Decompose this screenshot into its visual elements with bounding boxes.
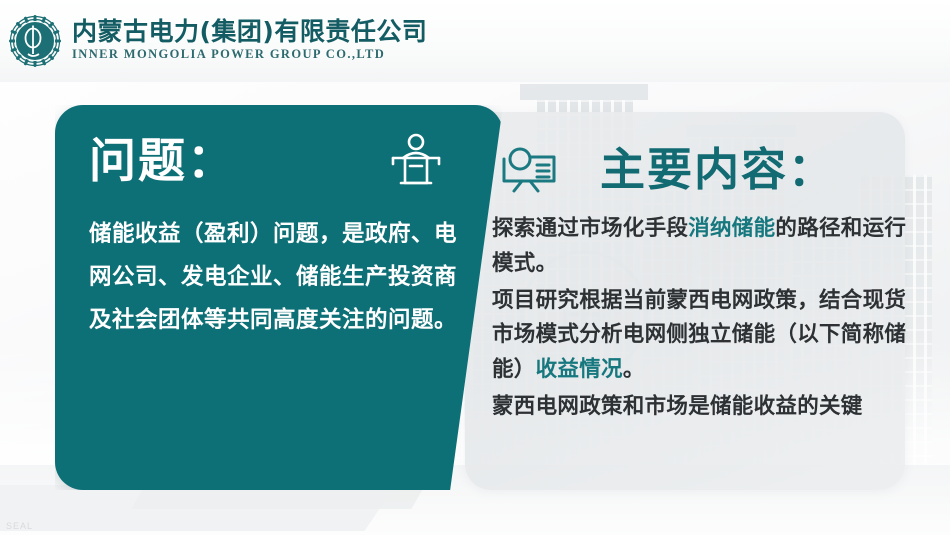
- company-name-en: INNER MONGOLIA POWER GROUP CO.,LTD: [72, 45, 427, 64]
- left-panel-title-row: 问题：: [89, 131, 469, 193]
- company-seal-icon: [8, 14, 62, 68]
- paragraph-text: 蒙西电网政策和市场是储能收益的关键: [492, 394, 863, 419]
- company-name-cn: 内蒙古电力(集团)有限责任公司: [72, 19, 427, 45]
- projector-icon: [500, 143, 558, 195]
- highlighted-term: 消纳储能: [688, 216, 775, 241]
- paragraph-text: 。: [623, 357, 645, 382]
- highlighted-term: 收益情况: [536, 357, 623, 382]
- right-panel-title-row: 主要内容：: [500, 138, 920, 200]
- right-panel-title: 主要内容：: [600, 147, 835, 192]
- right-panel-body: 探索通过市场化手段消纳储能的路径和运行模式。项目研究根据当前蒙西电网政策，结合现…: [492, 212, 920, 427]
- right-panel-paragraph: 蒙西电网政策和市场是储能收益的关键: [492, 390, 920, 425]
- paragraph-text: 探索通过市场化手段: [492, 216, 688, 241]
- building-roof: [520, 84, 648, 100]
- slide-root: 电: [0, 0, 950, 535]
- ground-accent-shape: [0, 485, 396, 531]
- left-panel-body: 储能收益（盈利）问题，是政府、电网公司、发电企业、储能生产投资商及社会团体等共同…: [89, 213, 469, 343]
- right-panel-paragraph: 探索通过市场化手段消纳储能的路径和运行模式。: [492, 212, 920, 282]
- corner-watermark: SEAL: [6, 521, 33, 531]
- header-bar: 内蒙古电力(集团)有限责任公司 INNER MONGOLIA POWER GRO…: [0, 0, 950, 82]
- left-question-panel: 问题：: [55, 105, 503, 490]
- right-panel-paragraph: 项目研究根据当前蒙西电网政策，结合现货市场模式分析电网侧独立储能（以下简称储能）…: [492, 284, 920, 388]
- left-panel-title: 问题：: [89, 136, 236, 188]
- company-name-block: 内蒙古电力(集团)有限责任公司 INNER MONGOLIA POWER GRO…: [72, 19, 427, 64]
- podium-speaker-icon: [385, 131, 447, 193]
